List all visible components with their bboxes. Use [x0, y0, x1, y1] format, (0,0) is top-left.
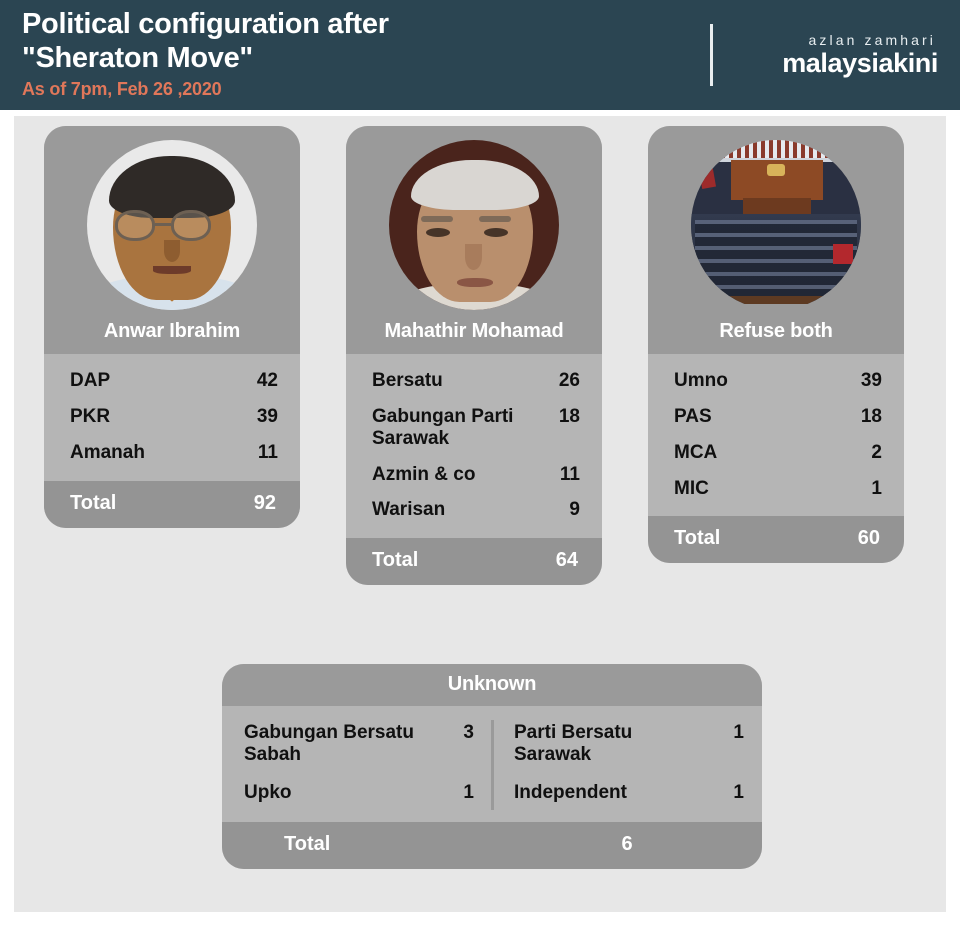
seat-count: 18: [856, 406, 882, 428]
party-name: DAP: [70, 370, 252, 392]
total-value: 60: [854, 527, 880, 550]
seat-count: 3: [448, 722, 474, 744]
logo-author-name: azlan zamhari: [809, 33, 938, 48]
header-bar: Political configuration after "Sheraton …: [0, 0, 960, 110]
seat-count: 1: [856, 478, 882, 500]
party-name: Gabungan Bersatu Sabah: [244, 722, 448, 766]
table-row: Gabungan Parti Sarawak 18: [346, 399, 602, 457]
photo-frame: [648, 126, 904, 310]
logo: azlan zamhari malaysiakini: [751, 33, 938, 77]
total-label: Total: [222, 833, 492, 856]
card-title: Unknown: [222, 664, 762, 706]
party-rows: Bersatu 26 Gabungan Parti Sarawak 18 Azm…: [346, 354, 602, 538]
logo-brand-name: malaysiakini: [782, 49, 938, 77]
table-row: Upko 1: [222, 774, 492, 812]
card-total-row: Total 60: [648, 516, 904, 563]
seat-count: 2: [856, 442, 882, 464]
table-row: Parti Bersatu Sarawak 1: [492, 714, 762, 774]
seat-count: 1: [448, 782, 474, 804]
party-name: Independent: [514, 782, 718, 804]
seat-count: 39: [856, 370, 882, 392]
party-name: Parti Bersatu Sarawak: [514, 722, 718, 766]
seat-count: 1: [718, 722, 744, 744]
seat-count: 18: [554, 406, 580, 428]
table-row: PKR 39: [44, 399, 300, 435]
table-row: Amanah 11: [44, 435, 300, 471]
party-name: PAS: [674, 406, 856, 428]
party-name: Bersatu: [372, 370, 554, 392]
column-divider: [491, 720, 494, 810]
party-rows: Umno 39 PAS 18 MCA 2 MIC 1: [648, 354, 904, 516]
unknown-left-column: Gabungan Bersatu Sabah 3 Upko 1: [222, 714, 492, 812]
seat-count: 1: [718, 782, 744, 804]
total-value: 92: [250, 492, 276, 515]
party-name: Umno: [674, 370, 856, 392]
total-value: 64: [552, 549, 578, 572]
card-total-row: Total 64: [346, 538, 602, 585]
card-mahathir-mohamad: Mahathir Mohamad Bersatu 26 Gabungan Par…: [346, 126, 602, 585]
party-name: Amanah: [70, 442, 252, 464]
party-rows: DAP 42 PKR 39 Amanah 11: [44, 354, 300, 481]
as-of-date: As of 7pm, Feb 26 ,2020: [22, 79, 710, 100]
table-row: Bersatu 26: [346, 363, 602, 399]
party-name: MCA: [674, 442, 856, 464]
total-label: Total: [70, 492, 250, 515]
unknown-party-rows: Gabungan Bersatu Sabah 3 Upko 1 Parti Be…: [222, 706, 762, 822]
infographic-root: Political configuration after "Sheraton …: [0, 0, 960, 926]
divider-line: [710, 24, 713, 86]
table-row: Umno 39: [648, 363, 904, 399]
total-label: Total: [372, 549, 552, 572]
page-title-line-2: "Sheraton Move": [22, 42, 710, 76]
anwar-ibrahim-portrait: [87, 140, 257, 310]
card-anwar-ibrahim: Anwar Ibrahim DAP 42 PKR 39 Amanah 11 To…: [44, 126, 300, 528]
seat-count: 26: [554, 370, 580, 392]
table-row: Gabungan Bersatu Sabah 3: [222, 714, 492, 774]
page-title-line-1: Political configuration after: [22, 8, 710, 42]
table-row: MCA 2: [648, 435, 904, 471]
party-name: Upko: [244, 782, 448, 804]
photo-frame: [44, 126, 300, 310]
card-title: Refuse both: [648, 310, 904, 354]
table-row: MIC 1: [648, 471, 904, 507]
card-title: Anwar Ibrahim: [44, 310, 300, 354]
seat-count: 11: [554, 464, 580, 486]
brand-block: azlan zamhari malaysiakini: [710, 0, 960, 110]
table-row: DAP 42: [44, 363, 300, 399]
card-total-row: Total 92: [44, 481, 300, 528]
card-total-row: Total 6: [222, 822, 762, 869]
party-name: MIC: [674, 478, 856, 500]
seat-count: 39: [252, 406, 278, 428]
photo-frame: [346, 126, 602, 310]
seat-count: 42: [252, 370, 278, 392]
party-name: Azmin & co: [372, 464, 554, 486]
seat-count: 11: [252, 442, 278, 464]
card-unknown: Unknown Gabungan Bersatu Sabah 3 Upko 1 …: [222, 664, 762, 869]
total-value: 6: [492, 833, 762, 856]
total-label: Total: [674, 527, 854, 550]
table-row: Azmin & co 11: [346, 457, 602, 493]
header-title-block: Political configuration after "Sheraton …: [0, 0, 710, 110]
party-name: Warisan: [372, 499, 554, 521]
table-row: Independent 1: [492, 774, 762, 812]
unknown-right-column: Parti Bersatu Sarawak 1 Independent 1: [492, 714, 762, 812]
parliament-chamber-photo: [691, 140, 861, 310]
table-row: PAS 18: [648, 399, 904, 435]
card-title: Mahathir Mohamad: [346, 310, 602, 354]
seat-count: 9: [554, 499, 580, 521]
party-name: PKR: [70, 406, 252, 428]
party-name: Gabungan Parti Sarawak: [372, 406, 554, 450]
table-row: Warisan 9: [346, 492, 602, 528]
mahathir-mohamad-portrait: [389, 140, 559, 310]
content-canvas: Anwar Ibrahim DAP 42 PKR 39 Amanah 11 To…: [14, 116, 946, 912]
card-refuse-both: Refuse both Umno 39 PAS 18 MCA 2 MIC 1: [648, 126, 904, 563]
